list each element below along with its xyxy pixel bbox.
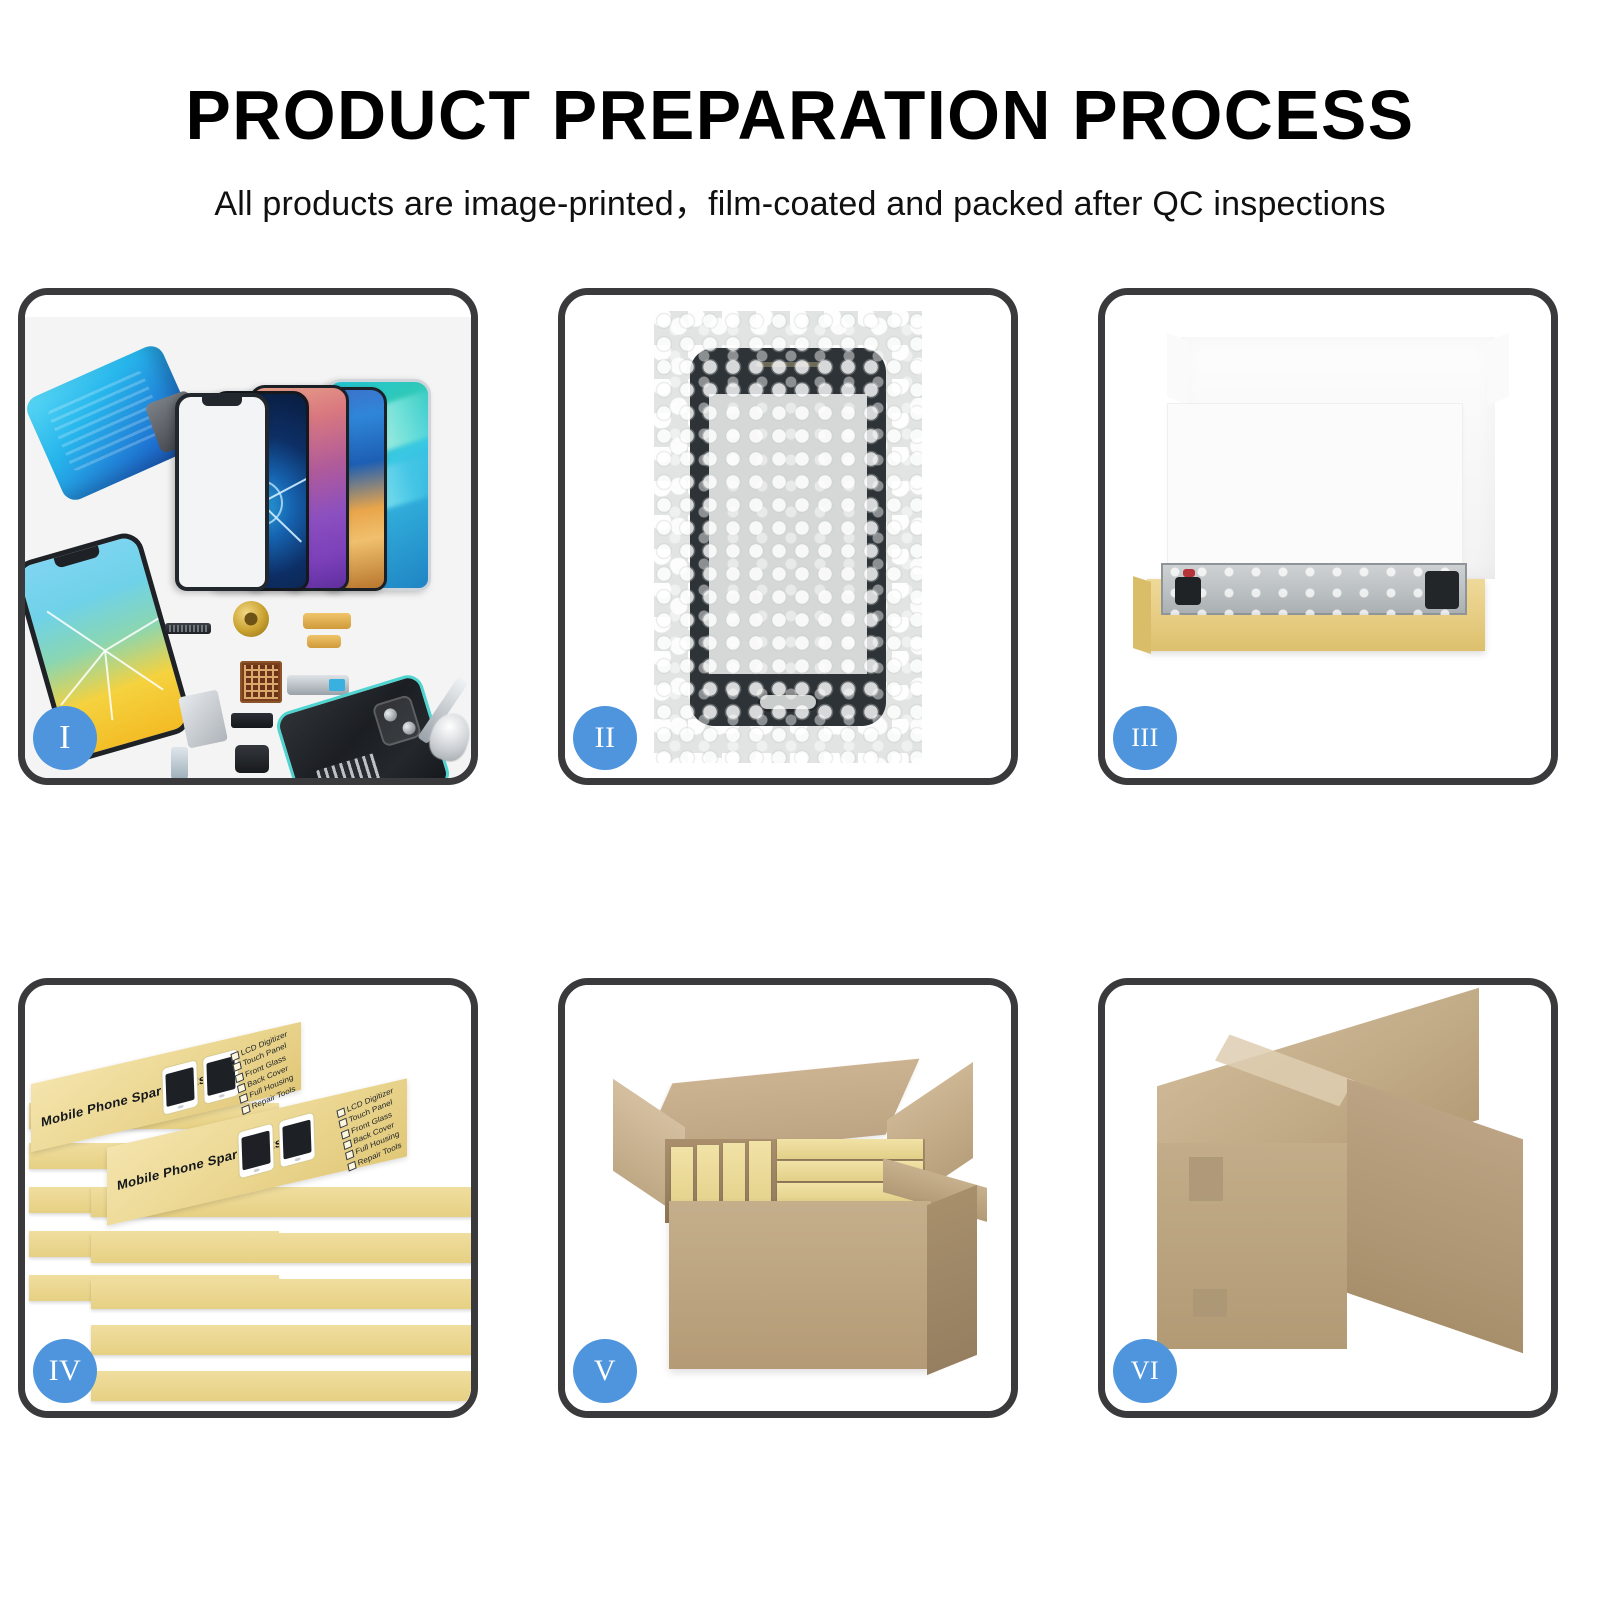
wrapped-screen-in-box <box>1161 563 1467 615</box>
crack-line <box>104 650 163 691</box>
step-panel-5: V <box>558 978 1018 1418</box>
phone-thumbnail <box>279 1113 315 1168</box>
step-panel-3: III <box>1098 288 1558 785</box>
crack-line <box>105 614 166 652</box>
stacked-box-edge <box>91 1279 471 1309</box>
step-badge-6: VI <box>1113 1339 1177 1403</box>
step-image-2 <box>565 295 1011 778</box>
flex-cable-part <box>287 675 349 695</box>
phone-screen-fan: 08:08Tue, Oct 12 <box>175 331 471 591</box>
carton-front-face <box>1157 1143 1347 1349</box>
step-badge-4: IV <box>33 1339 97 1403</box>
stacked-box-edge <box>91 1233 471 1263</box>
packing-tape <box>1215 1035 1354 1107</box>
box-label-checklist: LCD Digitizer Touch Panel Front Glass Ba… <box>230 1028 299 1116</box>
phone-notch <box>54 545 101 568</box>
camera-module-part <box>235 745 269 773</box>
sealed-carton-scene <box>1105 985 1551 1411</box>
step-badge-2: II <box>573 706 637 770</box>
step-image-6 <box>1105 985 1551 1411</box>
crack-line <box>104 650 113 720</box>
open-shipping-carton <box>617 1051 977 1371</box>
step-badge-3: III <box>1113 706 1177 770</box>
connector-strip-part <box>165 623 211 634</box>
infographic-page: PRODUCT PREPARATION PROCESS All products… <box>0 0 1600 1600</box>
carton-tape-tab <box>1193 1289 1227 1317</box>
foam-insert <box>1167 403 1463 579</box>
single-box-scene <box>1105 295 1551 778</box>
flex-cable-part <box>307 635 341 648</box>
bubble-wrap-scene <box>565 295 1011 778</box>
step-image-3 <box>1105 295 1551 778</box>
camera-lens <box>401 720 417 736</box>
packed-box <box>777 1139 923 1159</box>
sealed-shipping-carton <box>1141 1037 1523 1367</box>
bubble-texture-overlay <box>654 311 922 763</box>
step-badge-5: V <box>573 1339 637 1403</box>
box-label-thumbnails <box>162 1049 239 1115</box>
crack-line <box>46 611 105 652</box>
stacked-box-edge <box>91 1371 471 1401</box>
page-subtitle: All products are image-printed，film-coat… <box>0 176 1600 225</box>
box-label-checklist: LCD Digitizer Touch Panel Front Glass Ba… <box>336 1085 405 1173</box>
flex-cable-part <box>178 689 228 748</box>
wrap-sheen <box>1161 563 1467 615</box>
front-glass-blank <box>175 393 269 591</box>
step-panel-6: VI <box>1098 978 1558 1418</box>
page-title: PRODUCT PREPARATION PROCESS <box>24 78 1576 152</box>
step-image-4: Mobile Phone Spare Parts LCD Digitizer T… <box>25 985 471 1411</box>
bubble-wrap-photo <box>654 311 922 763</box>
header: PRODUCT PREPARATION PROCESS All products… <box>0 78 1600 225</box>
red-sticker <box>1183 569 1195 577</box>
crack-line <box>60 650 106 706</box>
process-step-grid: 08:08Tue, Oct 12 <box>18 288 1558 1418</box>
carton-tape-tab <box>1189 1157 1223 1201</box>
retail-box-stack: Mobile Phone Spare Parts LCD Digitizer T… <box>29 1011 471 1411</box>
phone-thumbnail <box>238 1124 274 1179</box>
step-panel-1: 08:08Tue, Oct 12 <box>18 288 478 785</box>
step-badge-1: I <box>33 706 97 770</box>
battery-part <box>316 753 383 778</box>
sim-tray-part <box>171 747 188 778</box>
antenna-module-part <box>231 713 273 728</box>
screen-corner-dark <box>1175 577 1201 605</box>
ic-chip-part <box>240 661 282 703</box>
screen-corner-dark <box>1425 571 1459 609</box>
box-label-thumbnails <box>238 1113 315 1179</box>
carton-body <box>669 1201 931 1369</box>
stacked-box-edge <box>91 1325 471 1355</box>
box-stack-scene: Mobile Phone Spare Parts LCD Digitizer T… <box>25 985 471 1411</box>
step-panel-4: Mobile Phone Spare Parts LCD Digitizer T… <box>18 978 478 1418</box>
step-image-5 <box>565 985 1011 1411</box>
camera-lens <box>382 707 398 723</box>
flex-cable-part <box>303 613 351 629</box>
carton-side-face <box>1347 1079 1523 1354</box>
open-carton-scene <box>565 985 1011 1411</box>
speaker-coil-part <box>233 601 269 637</box>
step-panel-2: II <box>558 288 1018 785</box>
step-image-1: 08:08Tue, Oct 12 <box>25 295 471 778</box>
spare-parts-scene: 08:08Tue, Oct 12 <box>25 295 471 778</box>
phone-thumbnail <box>162 1060 198 1115</box>
